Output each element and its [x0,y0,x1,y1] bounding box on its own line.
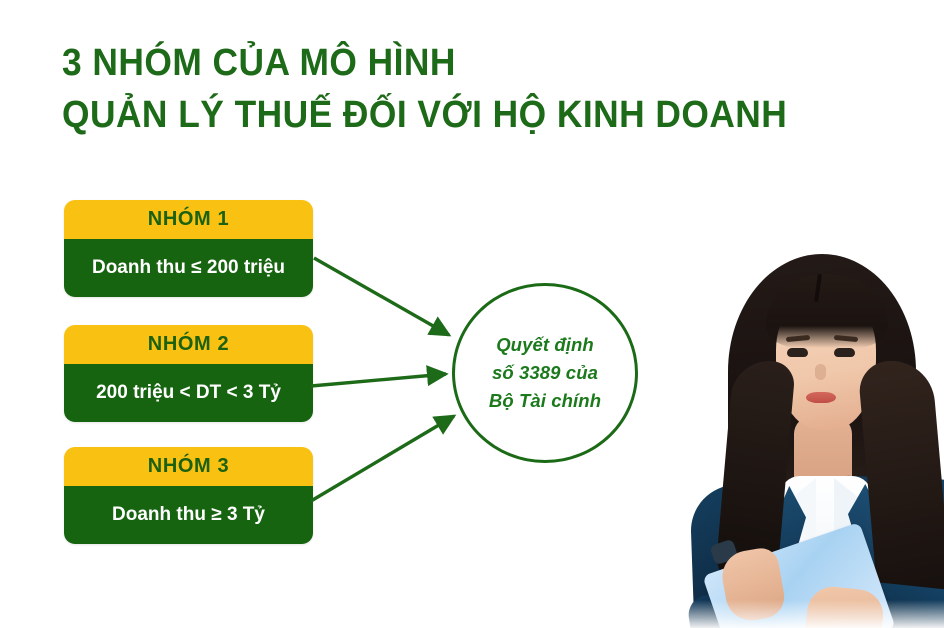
group-card-2-body: 200 triệu < DT < 3 Tỷ [64,364,313,422]
arrow-group-1-to-decision [314,258,449,335]
group-card-3[interactable]: NHÓM 3 Doanh thu ≥ 3 Tỷ [64,447,313,544]
decision-line-3: Bộ Tài chính [489,387,601,415]
group-card-2-header: NHÓM 2 [64,325,313,364]
decision-line-1: Quyết định [496,331,594,359]
page-title: 3 NHÓM CỦA MÔ HÌNH QUẢN LÝ THUẾ ĐỐI VỚI … [62,44,782,134]
eye-left [787,348,808,357]
title-line-2: QUẢN LÝ THUẾ ĐỐI VỚI HỘ KINH DOANH [62,96,732,134]
mouth [806,392,836,403]
businesswoman-photo [620,240,944,628]
group-card-2[interactable]: NHÓM 2 200 triệu < DT < 3 Tỷ [64,325,313,422]
eye-right [834,348,855,357]
group-card-1[interactable]: NHÓM 1 Doanh thu ≤ 200 triệu [64,200,313,297]
group-card-1-header: NHÓM 1 [64,200,313,239]
title-line-1: 3 NHÓM CỦA MÔ HÌNH [62,44,732,82]
photo-bottom-fade [620,600,944,628]
decision-circle[interactable]: Quyết định số 3389 của Bộ Tài chính [452,283,638,463]
infographic-root: 3 NHÓM CỦA MÔ HÌNH QUẢN LÝ THUẾ ĐỐI VỚI … [0,0,944,628]
group-card-3-header: NHÓM 3 [64,447,313,486]
group-card-3-body: Doanh thu ≥ 3 Tỷ [64,486,313,544]
arrow-group-2-to-decision [311,374,446,386]
decision-line-2: số 3389 của [492,359,598,387]
nose [815,364,826,380]
group-card-1-body: Doanh thu ≤ 200 triệu [64,239,313,297]
arrow-group-3-to-decision [311,416,454,501]
